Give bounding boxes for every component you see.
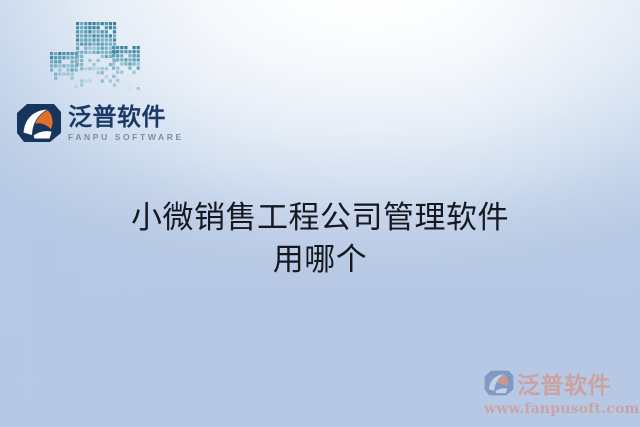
brand-block: 泛普软件 FANPU SOFTWARE bbox=[14, 16, 174, 146]
watermark-name-cn: 泛普软件 bbox=[517, 366, 611, 400]
brand-name-en: FANPU SOFTWARE bbox=[68, 133, 184, 142]
page-title: 小微销售工程公司管理软件 用哪个 bbox=[0, 198, 640, 281]
slide-canvas: 泛普软件 FANPU SOFTWARE 小微销售工程公司管理软件 用哪个 泛普软… bbox=[0, 0, 640, 427]
mosaic-buildings-icon bbox=[48, 16, 140, 98]
watermark-url: www.fanpusoft.com bbox=[484, 401, 636, 417]
page-title-line-1: 小微销售工程公司管理软件 bbox=[40, 198, 600, 240]
fanpu-watermark-mark bbox=[484, 369, 514, 397]
brand-name-cn: 泛普软件 bbox=[68, 105, 184, 129]
watermark: 泛普软件 www.fanpusoft.com bbox=[484, 366, 636, 417]
watermark-logo-row: 泛普软件 bbox=[484, 366, 636, 400]
page-title-line-2: 用哪个 bbox=[40, 240, 600, 282]
fanpu-logo-lockup: 泛普软件 FANPU SOFTWARE bbox=[16, 102, 184, 144]
fanpu-logo-text: 泛普软件 FANPU SOFTWARE bbox=[68, 105, 184, 142]
fanpu-logo-mark bbox=[16, 102, 62, 144]
